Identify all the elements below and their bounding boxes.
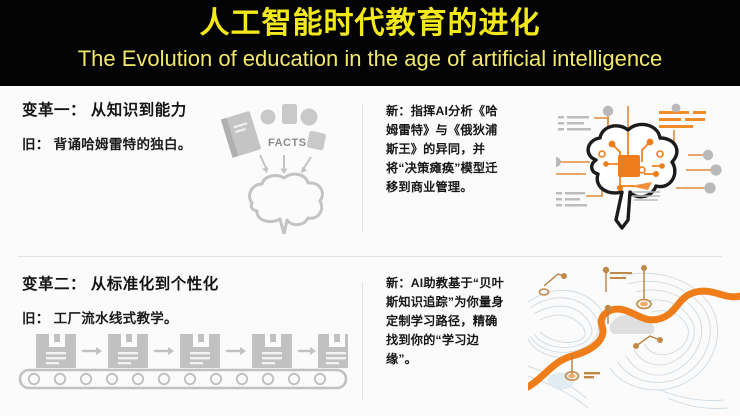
facts-into-brain-icon: FACTS: [212, 102, 362, 234]
page-title: 人工智能时代教育的进化: [200, 5, 541, 43]
section-transformation-one: 变革一： 从知识到能力 旧： 背诵哈姆雷特的独白。: [0, 86, 740, 256]
ai-circuit-brain-icon: [556, 100, 740, 232]
path-map-svg: [528, 262, 740, 414]
ai-brain-svg: [556, 100, 740, 232]
slide-root: 人工智能时代教育的进化 The Evolution of education i…: [0, 0, 740, 416]
section-2-new-text: 新：AI助教基于“贝叶斯知识追踪”为你量身定制学习路径，精确找到你的“学习边缘”…: [386, 274, 508, 369]
section-2-old-text: 旧： 工厂流水线式教学。: [22, 307, 342, 327]
section-2-text-block: 变革二： 从标准化到个性化 旧： 工厂流水线式教学。: [22, 272, 342, 327]
facts-brain-svg: FACTS: [212, 102, 362, 234]
conveyor-belt-svg: [18, 328, 348, 390]
slide-header: 人工智能时代教育的进化 The Evolution of education i…: [0, 0, 740, 86]
factory-conveyor-belt-icon: [18, 328, 348, 390]
section-2-heading: 变革二： 从标准化到个性化: [22, 272, 342, 294]
winding-path-map-icon: [528, 262, 740, 414]
svg-text:FACTS: FACTS: [268, 137, 307, 149]
page-subtitle: The Evolution of education in the age of…: [78, 44, 663, 74]
content-area: 变革一： 从知识到能力 旧： 背诵哈姆雷特的独白。: [0, 86, 740, 416]
section-1-new-text: 新：指挥AI分析《哈姆雷特》与《俄狄浦斯王》的异同，并将“决策瘫痪”模型迁移到商…: [386, 102, 508, 197]
